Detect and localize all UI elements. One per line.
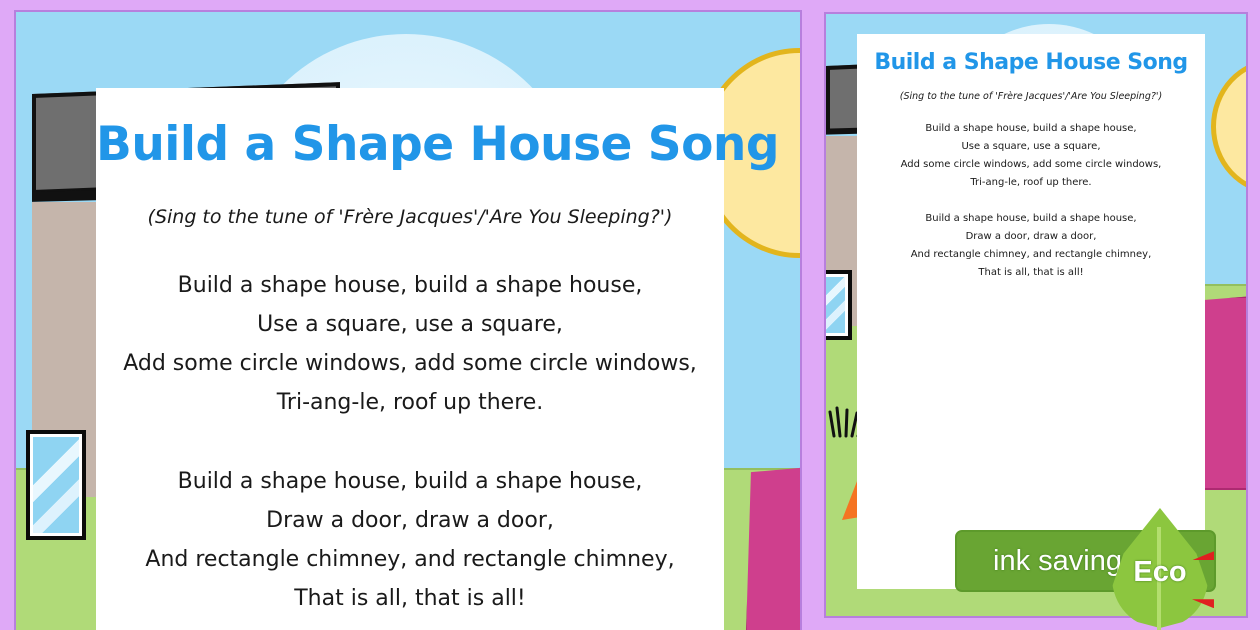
- song-text-card: Build a Shape House Song (Sing to the tu…: [96, 88, 724, 630]
- song-poster-page: Build a Shape House Song (Sing to the tu…: [0, 0, 812, 630]
- ink-saving-eco-badge: ink saving Eco: [955, 530, 1216, 592]
- verse-line: Add some circle windows, add some circle…: [96, 344, 724, 383]
- verse-line: And rectangle chimney, and rectangle chi…: [857, 246, 1205, 264]
- pink-shape-decoration: [745, 464, 802, 630]
- thumbnail-verse-2: Build a shape house, build a shape house…: [857, 192, 1205, 282]
- verse-1: Build a shape house, build a shape house…: [96, 230, 724, 422]
- verse-line: Draw a door, draw a door,: [96, 501, 724, 540]
- verse-line: That is all, that is all!: [857, 264, 1205, 282]
- verse-line: Add some circle windows, add some circle…: [857, 156, 1205, 174]
- song-poster-thumbnail[interactable]: Build a Shape House Song (Sing to the tu…: [812, 0, 1260, 630]
- thumbnail-verse-1: Build a shape house, build a shape house…: [857, 104, 1205, 192]
- verse-2: Build a shape house, build a shape house…: [96, 422, 724, 618]
- house-window-lower: [26, 430, 86, 540]
- screenshot-stage: Build a Shape House Song (Sing to the tu…: [0, 0, 1260, 630]
- verse-line: Build a shape house, build a shape house…: [96, 266, 724, 305]
- thumbnail-song-text-card: Build a Shape House Song (Sing to the tu…: [857, 34, 1205, 589]
- eco-label: Eco: [1112, 556, 1208, 589]
- eco-leaf-icon: Eco: [1112, 508, 1208, 628]
- verse-line: Use a square, use a square,: [96, 305, 724, 344]
- thumbnail-house-window-lower: [824, 270, 852, 340]
- verse-line: Build a shape house, build a shape house…: [96, 462, 724, 501]
- verse-line: Tri-ang-le, roof up there.: [857, 174, 1205, 192]
- verse-line: Draw a door, draw a door,: [857, 228, 1205, 246]
- verse-line: And rectangle chimney, and rectangle chi…: [96, 540, 724, 579]
- thumbnail-page-title: Build a Shape House Song: [857, 34, 1205, 76]
- verse-line: That is all, that is all!: [96, 579, 724, 618]
- ink-saving-label: ink saving: [993, 545, 1122, 578]
- page-subtitle: (Sing to the tune of 'Frère Jacques'/'Ar…: [96, 172, 724, 230]
- verse-line: Tri-ang-le, roof up there.: [96, 383, 724, 422]
- thumbnail-page-subtitle: (Sing to the tune of 'Frère Jacques'/'Ar…: [857, 76, 1205, 104]
- verse-line: Build a shape house, build a shape house…: [857, 210, 1205, 228]
- verse-line: Use a square, use a square,: [857, 138, 1205, 156]
- page-title: Build a Shape House Song: [96, 88, 724, 172]
- verse-line: Build a shape house, build a shape house…: [857, 120, 1205, 138]
